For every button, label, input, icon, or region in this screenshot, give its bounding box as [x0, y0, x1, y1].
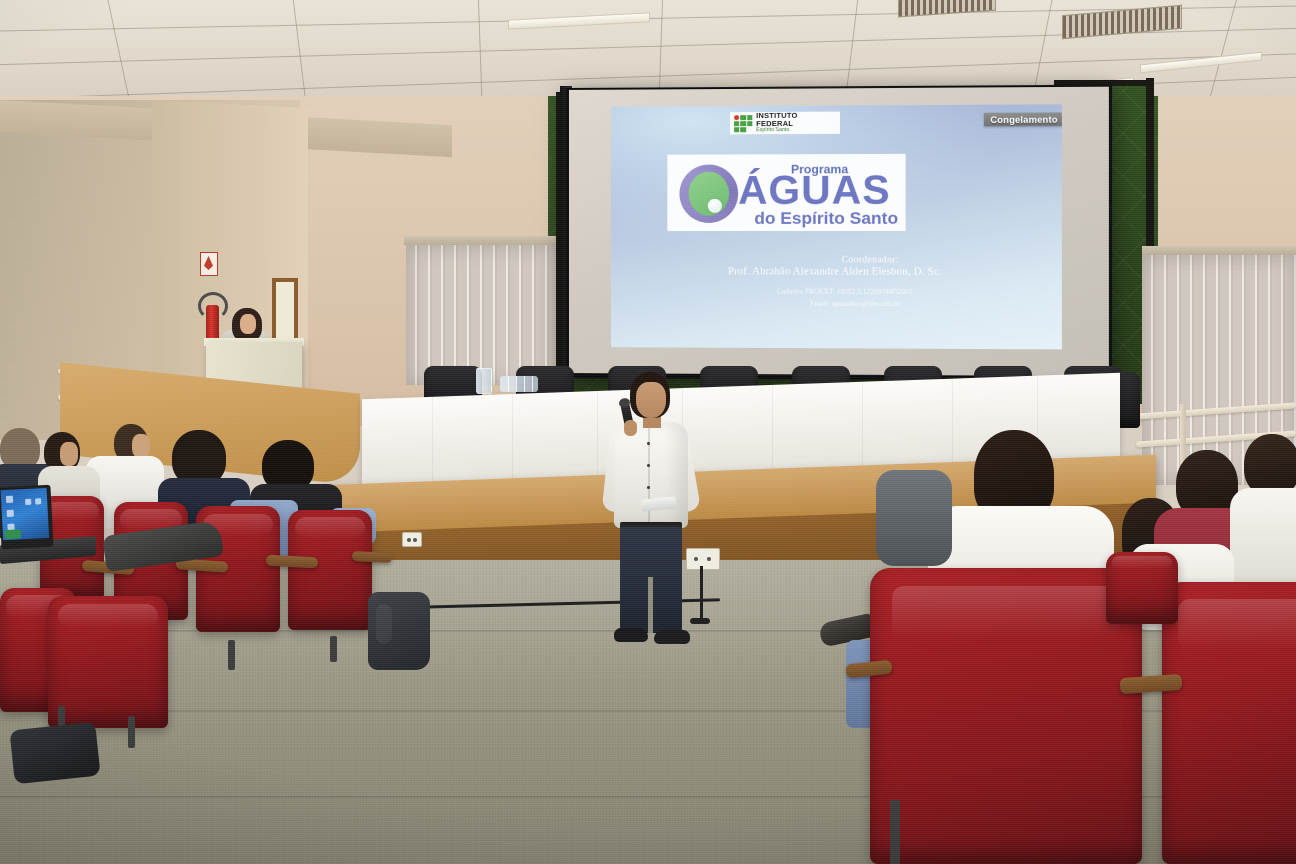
presentation-slide: INSTITUTO FEDERAL Espírito Santo Congela… [611, 104, 1062, 349]
aguas-program-title: ÁGUAS [738, 171, 891, 210]
presenter-shoe [654, 630, 690, 644]
presenter-face [636, 382, 666, 418]
seat-leg [890, 800, 900, 864]
blinds-headrail-right [1142, 246, 1296, 255]
shoulder-bag[interactable] [9, 722, 100, 785]
attendee-face [132, 434, 150, 458]
presenter-shirt [614, 422, 688, 528]
coordinator-label: Coordenador: [611, 255, 1062, 266]
coordinator-name: Prof. Abrahão Alexandre Alden Elesbon, D… [611, 266, 1062, 278]
ifes-logo-line1: INSTITUTO FEDERAL [756, 112, 836, 127]
slide-corner-badge: Congelamento [984, 112, 1062, 126]
window-blinds-left[interactable] [406, 245, 556, 385]
ifes-logo-line2: Espírito Santo [756, 128, 836, 134]
laptop-screen[interactable] [1, 488, 50, 540]
presenter-shoe [614, 628, 648, 642]
seat-leg [330, 636, 337, 662]
auditorium-seat-mid-right[interactable] [1106, 552, 1178, 624]
attendee-torso [876, 470, 952, 566]
slide-corner-badge-label: Congelamento [990, 114, 1057, 125]
presenter-hand [624, 420, 637, 436]
screen-canvas: INSTITUTO FEDERAL Espírito Santo Congela… [569, 87, 1109, 377]
aguas-logo: Programa ÁGUAS do Espírito Santo [667, 154, 905, 231]
auditorium-seat[interactable] [288, 510, 372, 630]
ifes-logo-mark-icon [734, 115, 752, 132]
auditorium-seat-foreground[interactable] [1162, 582, 1296, 864]
seat-leg [228, 640, 235, 670]
projection-screen: INSTITUTO FEDERAL Espírito Santo Congela… [566, 85, 1112, 382]
ifes-logo: INSTITUTO FEDERAL Espírito Santo [730, 112, 840, 135]
aguas-logo-ring-icon [679, 165, 738, 223]
person-at-lectern-face [240, 314, 256, 334]
blinds-headrail-left [404, 236, 556, 245]
water-pitcher [476, 368, 492, 394]
slide-footer: Coordenador: Prof. Abrahão Alexandre Ald… [611, 255, 1062, 310]
aguas-program-subtitle: do Espírito Santo [754, 209, 898, 229]
presenter-leg-gap [648, 577, 653, 633]
seat-leg [128, 716, 135, 748]
auditorium-seat-front[interactable] [48, 596, 168, 728]
handrail-post-right [1180, 404, 1186, 464]
attendee-head [1244, 434, 1296, 496]
registry-line: Cadastro PROEXT: 10252.3.12209.06052015 [611, 287, 1062, 298]
backpack[interactable] [368, 592, 430, 670]
aguas-logo-droplet-icon [708, 199, 722, 213]
email-line: Email: aguasdoes@ifes.edu.br [611, 299, 1062, 310]
presenter [600, 372, 710, 668]
seat-armrest [352, 551, 392, 563]
auditorium-seat-foreground[interactable] [870, 568, 1142, 864]
laptop[interactable] [0, 485, 54, 550]
wall-outlet [402, 532, 422, 547]
auditorium-photo: INSTITUTO FEDERAL Espírito Santo Congela… [0, 0, 1296, 864]
drinking-glasses [500, 376, 538, 392]
attendee-face [60, 442, 78, 466]
fire-extinguisher-icon [206, 305, 219, 341]
fire-sign [200, 252, 218, 276]
